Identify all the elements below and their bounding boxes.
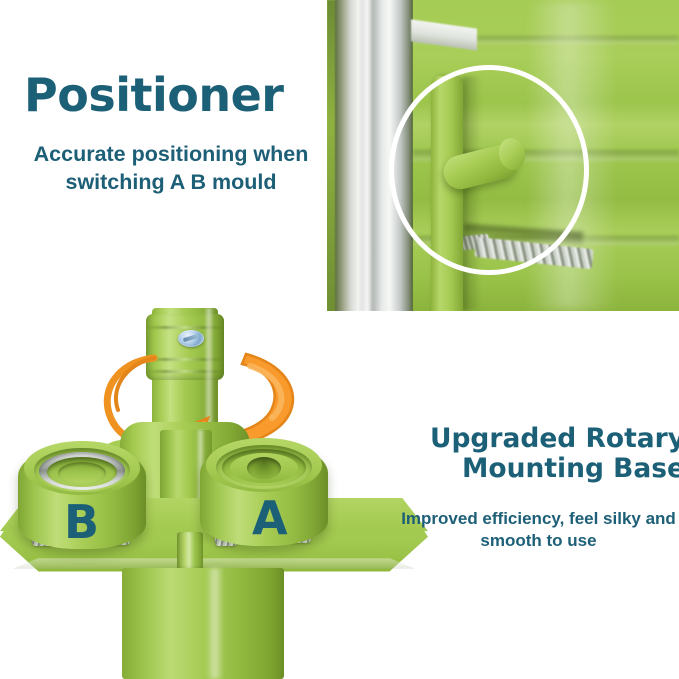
rotary-heading: Upgraded Rotary Mounting Base xyxy=(395,424,679,483)
positioner-subtitle: Accurate positioning when switching A B … xyxy=(12,140,330,197)
support-stem xyxy=(122,568,284,679)
center-hole xyxy=(247,457,281,479)
chrome-post-highlight xyxy=(361,0,373,311)
rotary-mounting-base-photo: B A xyxy=(0,300,440,679)
positioner-heading: Positioner xyxy=(24,72,283,118)
rotary-subtitle: Improved efficiency, feel silky and smoo… xyxy=(398,508,679,552)
station-b-label: B xyxy=(64,499,99,545)
station-b-inner-step-2 xyxy=(58,462,106,484)
station-a-label: A xyxy=(252,495,288,541)
positioner-closeup-photo xyxy=(327,0,679,311)
support-stem-highlight xyxy=(206,568,224,679)
mould-station-b: B xyxy=(18,445,146,561)
mould-station-a: A xyxy=(200,442,328,558)
product-feature-infographic: Positioner Accurate positioning when swi… xyxy=(0,0,679,679)
highlight-ellipse-annotation xyxy=(389,65,589,275)
